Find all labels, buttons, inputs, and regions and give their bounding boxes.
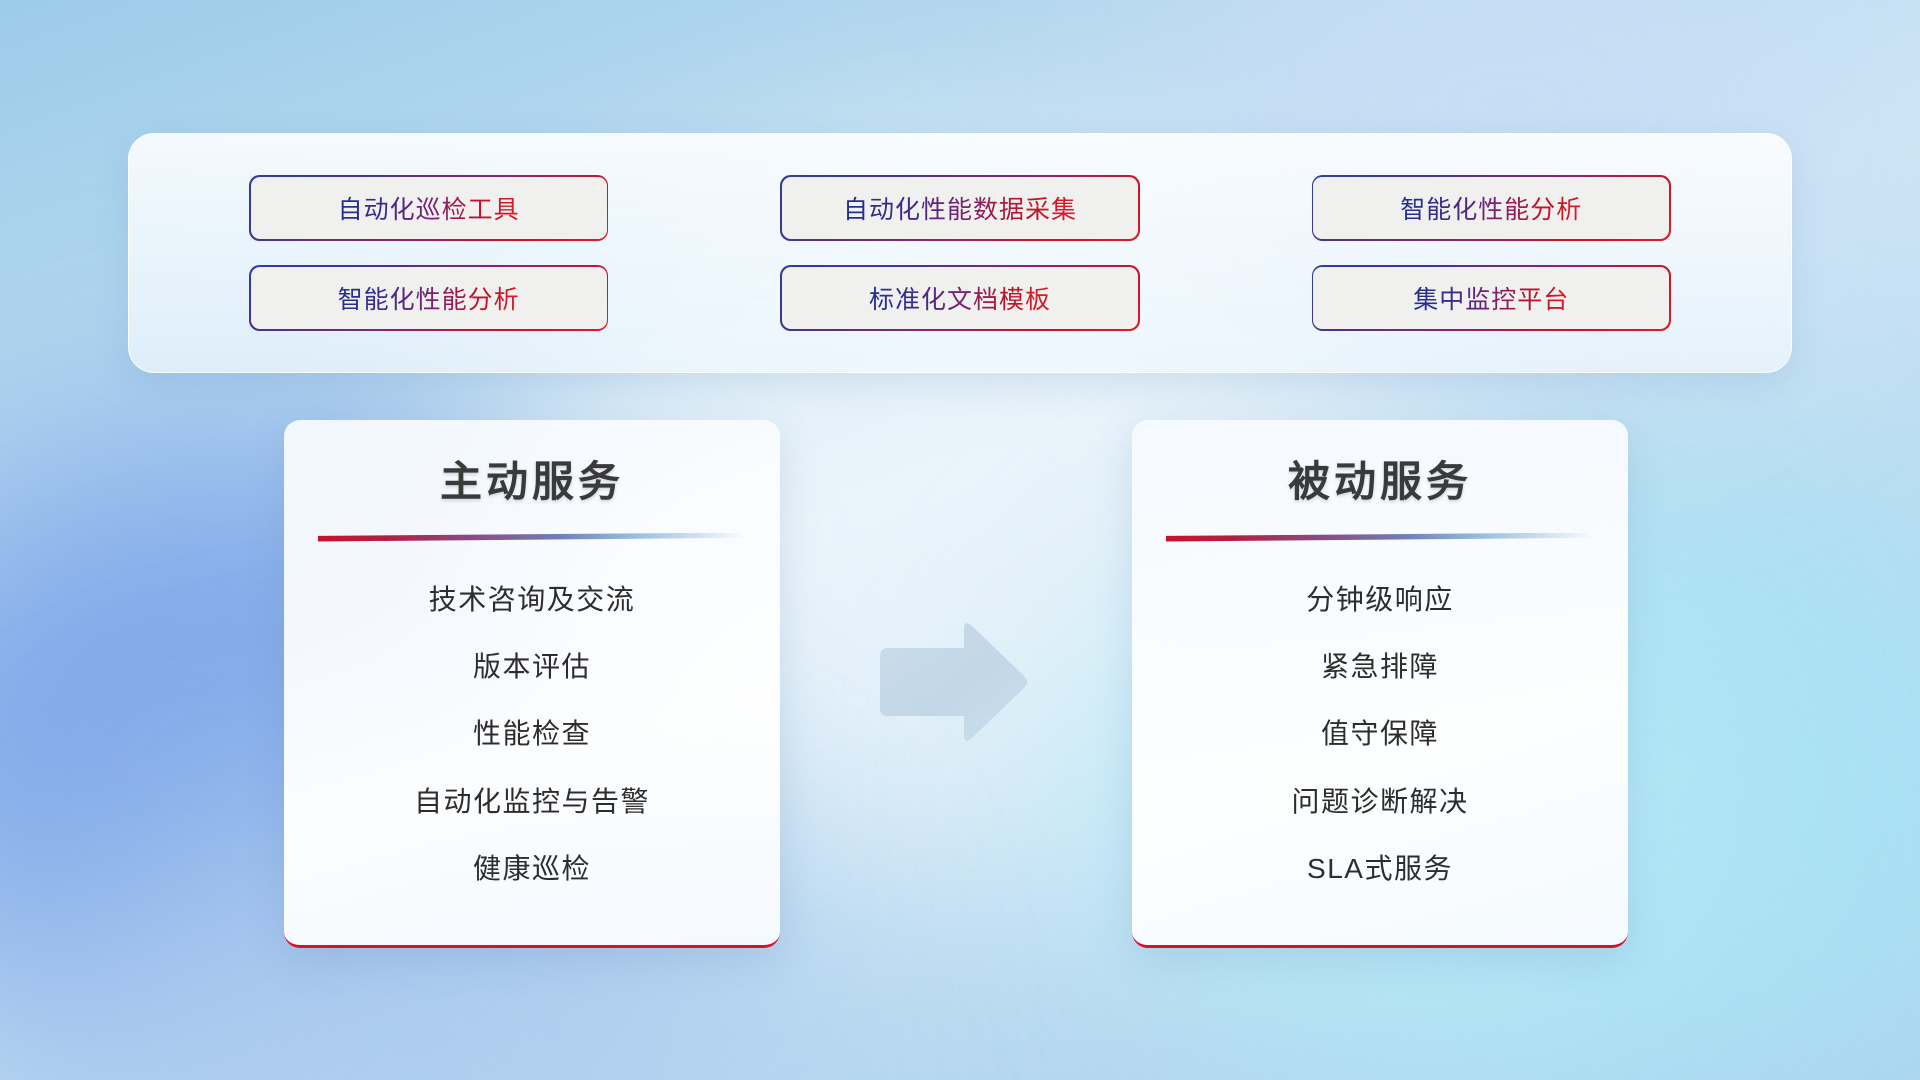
capability-tag[interactable]: 自动化巡检工具 — [251, 177, 607, 239]
service-item-list: 分钟级响应 紧急排障 值守保障 问题诊断解决 SLA式服务 — [1166, 550, 1594, 920]
service-item[interactable]: 问题诊断解决 — [1166, 785, 1594, 819]
service-item-list: 技术咨询及交流 版本评估 性能检查 自动化监控与告警 健康巡检 — [318, 550, 746, 920]
capability-tag[interactable]: 集中监控平台 — [1313, 267, 1669, 329]
service-item[interactable]: 分钟级响应 — [1166, 583, 1594, 617]
capability-tag-label: 自动化巡检工具 — [338, 190, 520, 226]
capability-tag-label: 智能化性能分析 — [1400, 190, 1582, 226]
arrow-right-icon — [872, 618, 1032, 746]
service-card-active: 主动服务 技术咨询及交流 版本评估 性能检查 自动化监控与告警 健康巡检 — [284, 420, 780, 948]
capability-tag[interactable]: 智能化性能分析 — [251, 267, 607, 329]
service-item[interactable]: 健康巡检 — [318, 852, 746, 886]
capability-tag-label: 智能化性能分析 — [338, 280, 520, 316]
service-item[interactable]: 自动化监控与告警 — [318, 785, 746, 819]
capability-column-2: 自动化性能数据采集 标准化文档模板 — [782, 177, 1138, 329]
capability-tag[interactable]: 自动化性能数据采集 — [782, 177, 1138, 239]
capability-tag[interactable]: 标准化文档模板 — [782, 267, 1138, 329]
service-card-passive: 被动服务 分钟级响应 紧急排障 值守保障 问题诊断解决 SLA式服务 — [1132, 420, 1628, 948]
service-item[interactable]: SLA式服务 — [1166, 852, 1594, 886]
service-item[interactable]: 紧急排障 — [1166, 650, 1594, 684]
service-item[interactable]: 版本评估 — [318, 650, 746, 684]
service-card-title: 被动服务 — [1166, 456, 1594, 509]
capability-tag-label: 集中监控平台 — [1413, 280, 1569, 316]
service-item[interactable]: 性能检查 — [318, 717, 746, 751]
capability-tag[interactable]: 智能化性能分析 — [1313, 177, 1669, 239]
title-divider — [318, 533, 746, 542]
service-item[interactable]: 技术咨询及交流 — [318, 583, 746, 617]
capability-column-1: 自动化巡检工具 智能化性能分析 — [251, 177, 607, 329]
divider-bar — [318, 533, 746, 542]
service-item[interactable]: 值守保障 — [1166, 717, 1594, 751]
capability-tag-label: 自动化性能数据采集 — [843, 190, 1077, 226]
capability-tag-label: 标准化文档模板 — [869, 280, 1051, 316]
capability-column-3: 智能化性能分析 集中监控平台 — [1313, 177, 1669, 329]
diagram-stage: 自动化巡检工具 智能化性能分析 自动化性能数据采集 标准化文档模板 智能化性能分… — [0, 0, 1920, 1080]
divider-bar — [1166, 533, 1594, 542]
service-card-title: 主动服务 — [318, 456, 746, 509]
title-divider — [1166, 533, 1594, 542]
capability-tags-panel: 自动化巡检工具 智能化性能分析 自动化性能数据采集 标准化文档模板 智能化性能分… — [128, 133, 1792, 373]
